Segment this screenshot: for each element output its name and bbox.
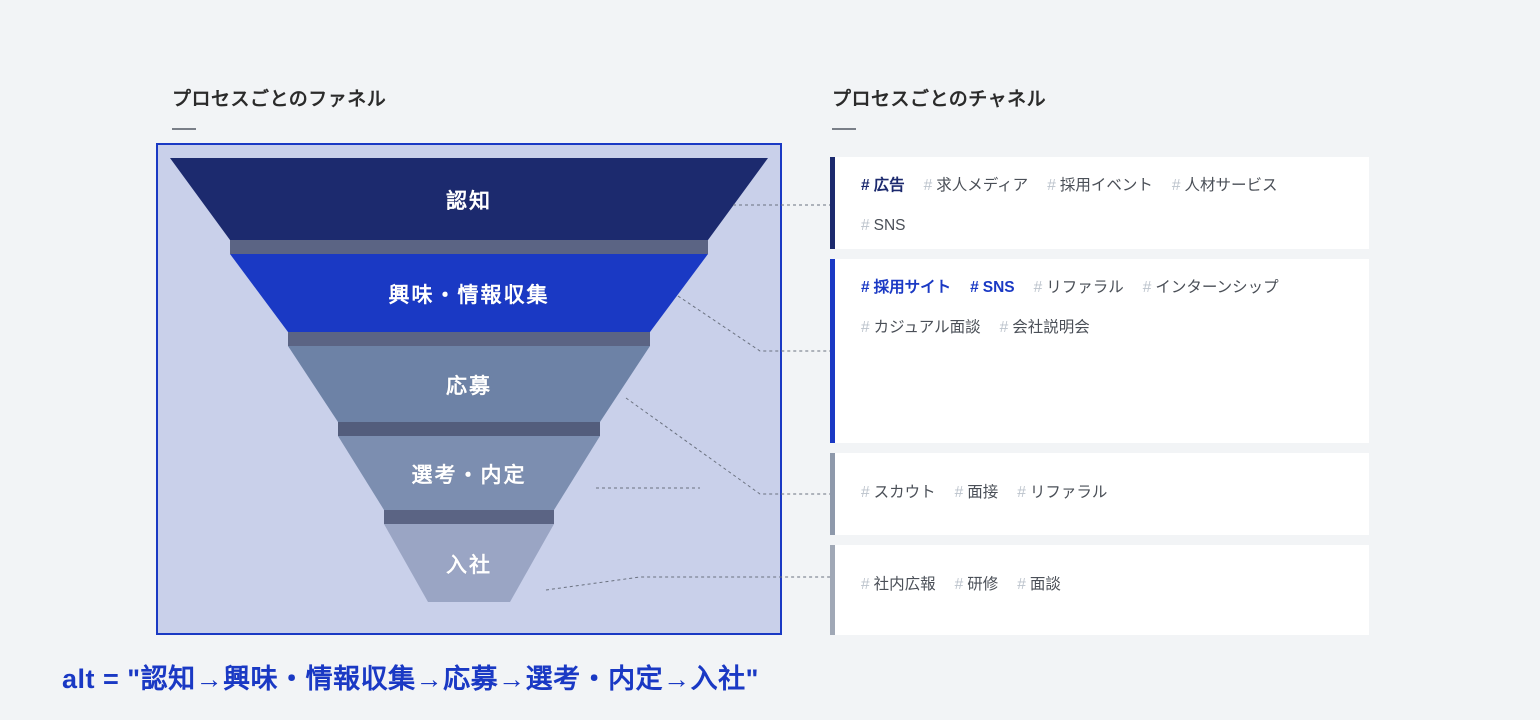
funnel-panel: 認知興味・情報収集応募選考・内定入社 xyxy=(156,143,782,635)
funnel-stage-separator xyxy=(384,510,554,524)
channel-heading-rule xyxy=(832,128,856,130)
channel-tag-label: 会社説明会 xyxy=(1012,308,1090,348)
hash-icon: # xyxy=(955,565,964,605)
funnel-stage-separator xyxy=(288,332,650,346)
channel-tag[interactable]: #スカウト xyxy=(861,473,936,513)
channel-tag[interactable]: #会社説明会 xyxy=(1000,308,1090,348)
funnel-stage-label: 認知 xyxy=(446,185,492,215)
channel-tag-label: SNS xyxy=(983,268,1015,308)
channel-tag[interactable]: #社内広報 xyxy=(861,565,936,605)
hash-icon: # xyxy=(1000,308,1009,348)
channel-tag[interactable]: #リファラル xyxy=(1017,473,1107,513)
channel-column-heading: プロセスごとのチャネル xyxy=(832,84,1046,130)
channel-tag-label: スカウト xyxy=(874,473,936,513)
funnel-fold-wedge xyxy=(204,240,230,254)
channel-tag-label: 社内広報 xyxy=(874,565,936,605)
funnel-fold-wedge xyxy=(312,422,338,436)
channel-tag-label: 面談 xyxy=(1030,565,1061,605)
funnel-stage-separator xyxy=(338,422,600,436)
diagram-stage: プロセスごとのファネル プロセスごとのチャネル 認知興味・情報収集応募選考・内定… xyxy=(0,0,1540,720)
hash-icon: # xyxy=(970,268,979,308)
channel-tag-label: 採用イベント xyxy=(1060,166,1153,206)
funnel-heading-rule xyxy=(172,128,196,130)
channel-tag[interactable]: #研修 xyxy=(955,565,999,605)
channel-tag-row: #社内広報#研修#面談 xyxy=(861,545,1343,605)
hash-icon: # xyxy=(861,166,870,206)
channel-heading-text: プロセスごとのチャネル xyxy=(832,84,1046,111)
funnel-fold-wedge xyxy=(358,510,384,524)
hash-icon: # xyxy=(1017,565,1026,605)
channel-tag-label: リファラル xyxy=(1030,473,1108,513)
channel-tag-label: 広告 xyxy=(874,166,905,206)
channel-tag-row: #採用サイト#SNS#リファラル#インターンシップ#カジュアル面談#会社説明会 xyxy=(861,259,1343,348)
hash-icon: # xyxy=(861,268,870,308)
channel-tag[interactable]: #広告 xyxy=(861,166,905,206)
channel-tag[interactable]: #カジュアル面談 xyxy=(861,308,981,348)
alt-caption: alt = "認知→興味・情報収集→応募→選考・内定→入社" xyxy=(62,657,759,696)
funnel-stage-label: 応募 xyxy=(446,370,492,400)
channel-tag-label: SNS xyxy=(874,206,906,246)
funnel-stage-label: 入社 xyxy=(446,549,492,579)
funnel-fold-wedge xyxy=(262,332,288,346)
funnel-heading-text: プロセスごとのファネル xyxy=(172,84,386,111)
hash-icon: # xyxy=(924,166,933,206)
funnel-stage-label: 興味・情報収集 xyxy=(389,279,550,309)
hash-icon: # xyxy=(861,308,870,348)
funnel-stage-separator xyxy=(230,240,708,254)
channel-tag[interactable]: #採用イベント xyxy=(1047,166,1153,206)
hash-icon: # xyxy=(861,565,870,605)
hash-icon: # xyxy=(1034,268,1043,308)
channel-tag[interactable]: #面談 xyxy=(1017,565,1061,605)
channel-tag-label: カジュアル面談 xyxy=(874,308,981,348)
channel-tag[interactable]: #人材サービス xyxy=(1172,166,1278,206)
hash-icon: # xyxy=(1017,473,1026,513)
channel-tag[interactable]: #SNS xyxy=(861,206,906,246)
funnel-stage-label: 選考・内定 xyxy=(412,459,527,489)
channel-tag[interactable]: #リファラル xyxy=(1034,268,1124,308)
channel-tag-label: リファラル xyxy=(1046,268,1124,308)
channel-tag-row: #広告#求人メディア#採用イベント#人材サービス#SNS xyxy=(861,157,1343,246)
hash-icon: # xyxy=(1143,268,1152,308)
hash-icon: # xyxy=(861,206,870,246)
hash-icon: # xyxy=(955,473,964,513)
channel-tag[interactable]: #面接 xyxy=(955,473,999,513)
channel-tag-label: インターンシップ xyxy=(1155,268,1278,308)
hash-icon: # xyxy=(1047,166,1056,206)
channel-tag-label: 採用サイト xyxy=(874,268,952,308)
channel-tag-label: 人材サービス xyxy=(1184,166,1277,206)
channel-tag[interactable]: #SNS xyxy=(970,268,1015,308)
channel-tag-row: #スカウト#面接#リファラル xyxy=(861,453,1343,513)
channel-tag[interactable]: #インターンシップ xyxy=(1143,268,1279,308)
channel-tag[interactable]: #求人メディア xyxy=(924,166,1029,206)
channel-tag-label: 面接 xyxy=(967,473,998,513)
hash-icon: # xyxy=(1172,166,1181,206)
channel-card: #採用サイト#SNS#リファラル#インターンシップ#カジュアル面談#会社説明会 xyxy=(830,259,1369,443)
channel-card: #広告#求人メディア#採用イベント#人材サービス#SNS xyxy=(830,157,1369,249)
funnel-column-heading: プロセスごとのファネル xyxy=(172,84,386,130)
channel-tag-label: 研修 xyxy=(967,565,998,605)
channel-card: #社内広報#研修#面談 xyxy=(830,545,1369,635)
channel-tag[interactable]: #採用サイト xyxy=(861,268,951,308)
channel-card: #スカウト#面接#リファラル xyxy=(830,453,1369,535)
hash-icon: # xyxy=(861,473,870,513)
channel-tag-label: 求人メディア xyxy=(936,166,1028,206)
